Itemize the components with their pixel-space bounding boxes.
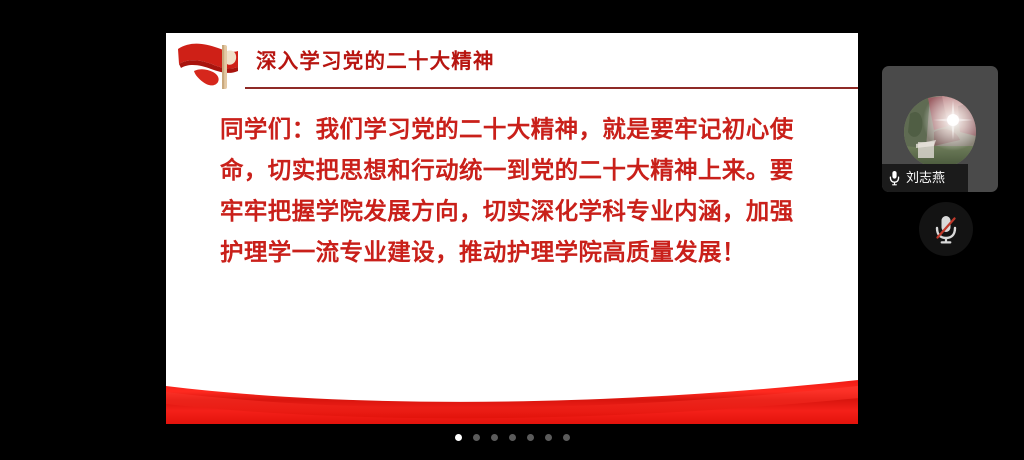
- slide-header: 深入学习党的二十大精神: [166, 33, 858, 91]
- screen-share-stage: 深入学习党的二十大精神 同学们：我们学习党的二十大精神，就是要牢记初心使 命，切…: [0, 0, 1024, 460]
- avatar-photo: [904, 96, 976, 168]
- mute-toggle-button[interactable]: [919, 202, 973, 256]
- body-line: 命，切实把思想和行动统一到党的二十大精神上来。要: [220, 150, 820, 191]
- slide-footer-ribbon: [166, 364, 858, 424]
- body-line: 牢牢把握学院发展方向，切实深化学科专业内涵，加强: [220, 191, 820, 232]
- body-line: 护理学一流专业建设，推动护理学院高质量发展！: [220, 232, 820, 273]
- microphone-icon: [889, 170, 900, 186]
- shared-slide[interactable]: 深入学习党的二十大精神 同学们：我们学习党的二十大精神，就是要牢记初心使 命，切…: [166, 33, 858, 424]
- body-line: 同学们：我们学习党的二十大精神，就是要牢记初心使: [220, 109, 820, 150]
- slide-body-text: 同学们：我们学习党的二十大精神，就是要牢记初心使 命，切实把思想和行动统一到党的…: [220, 109, 820, 273]
- participant-name: 刘志燕: [906, 170, 945, 186]
- header-divider: [245, 87, 858, 89]
- avatar: [904, 96, 976, 168]
- participant-video-tile[interactable]: 刘志燕: [882, 66, 998, 192]
- pagination-dot[interactable]: [545, 434, 552, 441]
- pagination-dot[interactable]: [473, 434, 480, 441]
- participant-name-bar: 刘志燕: [882, 164, 968, 192]
- pagination-dot[interactable]: [455, 434, 462, 441]
- slide-title: 深入学习党的二十大精神: [256, 49, 495, 75]
- pagination-dot[interactable]: [509, 434, 516, 441]
- microphone-muted-icon: [932, 213, 960, 245]
- pagination-dot[interactable]: [563, 434, 570, 441]
- slide-pagination[interactable]: [166, 429, 858, 445]
- red-flag-icon: [174, 37, 256, 91]
- pagination-dot[interactable]: [491, 434, 498, 441]
- pagination-dot[interactable]: [527, 434, 534, 441]
